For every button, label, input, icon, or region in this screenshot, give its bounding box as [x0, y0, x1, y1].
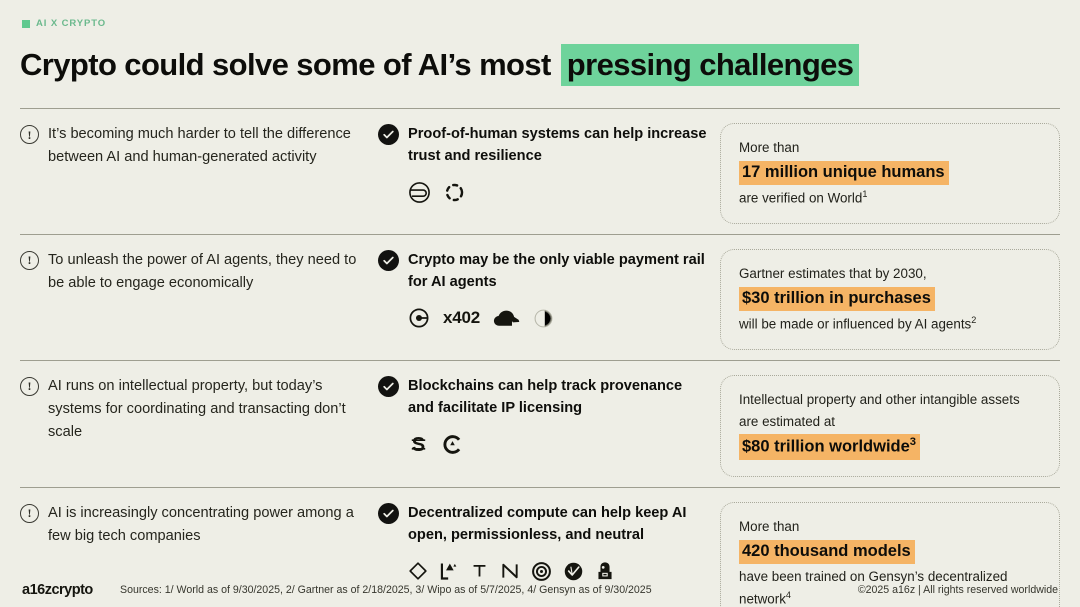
stat-highlight: 17 million unique humans — [739, 161, 949, 185]
eyebrow: AI X CRYPTO — [22, 18, 106, 29]
stat-card: Gartner estimates that by 2030, $30 tril… — [720, 249, 1060, 350]
stat-footnote: 3 — [910, 436, 916, 448]
footer: a16zcrypto Sources: 1/ World as of 9/30/… — [0, 573, 1080, 607]
stat-pre: More than — [739, 137, 1041, 159]
problem-cell: ! AI is increasingly concentrating power… — [20, 502, 378, 548]
stat-card: More than 17 million unique humans are v… — [720, 123, 1060, 224]
problem-text: It’s becoming much harder to tell the di… — [48, 123, 364, 169]
exclamation-circle-icon: ! — [20, 504, 39, 523]
solution-text: Decentralized compute can help keep AI o… — [408, 505, 686, 543]
content-rows: ! It’s becoming much harder to tell the … — [0, 108, 1080, 607]
striped-sphere-logo — [533, 308, 554, 329]
problem-cell: ! To unleash the power of AI agents, the… — [20, 249, 378, 295]
stat-cell: More than 17 million unique humans are v… — [720, 123, 1060, 224]
stat-highlight: $30 trillion in purchases — [739, 287, 935, 311]
title-plain: Crypto could solve some of AI’s most — [20, 47, 559, 82]
problem-cell: ! It’s becoming much harder to tell the … — [20, 123, 378, 169]
svg-text:S: S — [412, 434, 425, 456]
stat-post: will be made or influenced by AI agents2 — [739, 313, 1041, 335]
stat-cell: Gartner estimates that by 2030, $30 tril… — [720, 249, 1060, 350]
solution-cell: Decentralized compute can help keep AI o… — [378, 502, 720, 584]
stat-post-text: will be made or influenced by AI agents — [739, 316, 971, 331]
footer-sources: Sources: 1/ World as of 9/30/2025, 2/ Ga… — [120, 584, 652, 596]
stat-pre: Intellectual property and other intangib… — [739, 389, 1041, 432]
dashed-circle-logo — [444, 182, 465, 203]
logo-strip — [408, 179, 708, 205]
slide-root: AI X CRYPTO Crypto could solve some of A… — [0, 0, 1080, 607]
stat-highlight: $80 trillion worldwide3 — [739, 434, 920, 460]
table-row: ! It’s becoming much harder to tell the … — [20, 108, 1060, 234]
stat-pre: Gartner estimates that by 2030, — [739, 263, 1041, 285]
stat-highlight: 420 thousand models — [739, 540, 915, 564]
table-row: ! AI runs on intellectual property, but … — [20, 360, 1060, 487]
exclamation-circle-icon: ! — [20, 125, 39, 144]
cloudflare-cloud-logo — [493, 310, 520, 327]
check-circle-icon — [378, 124, 399, 145]
stat-pre: More than — [739, 516, 1041, 538]
eyebrow-label: AI X CRYPTO — [36, 18, 106, 29]
logo-strip: x402 — [408, 305, 708, 331]
green-square-icon — [22, 20, 30, 28]
logo-strip: S — [408, 431, 708, 457]
solution-cell: Proof-of-human systems can help increase… — [378, 123, 720, 205]
problem-text: AI runs on intellectual property, but to… — [48, 375, 364, 443]
problem-cell: ! AI runs on intellectual property, but … — [20, 375, 378, 443]
solution-cell: Blockchains can help track provenance an… — [378, 375, 720, 457]
footer-copyright: ©2025 a16z | All rights reserved worldwi… — [858, 584, 1058, 596]
stat-cell: Intellectual property and other intangib… — [720, 375, 1060, 477]
world-globe-logo — [408, 181, 431, 204]
camp-c-logo — [442, 434, 463, 455]
solution-cell: Crypto may be the only viable payment ra… — [378, 249, 720, 331]
stat-footnote: 1 — [862, 189, 867, 199]
check-circle-icon — [378, 503, 399, 524]
stat-card: Intellectual property and other intangib… — [720, 375, 1060, 477]
solution-text: Blockchains can help track provenance an… — [408, 378, 682, 416]
check-circle-icon — [378, 250, 399, 271]
stat-post: are verified on World1 — [739, 187, 1041, 209]
stat-footnote: 2 — [971, 315, 976, 325]
stat-highlight-text: $80 trillion worldwide — [742, 438, 910, 456]
exclamation-circle-icon: ! — [20, 251, 39, 270]
table-row: ! To unleash the power of AI agents, the… — [20, 234, 1060, 360]
stat-post-text: are verified on World — [739, 190, 862, 205]
a16zcrypto-logo: a16zcrypto — [22, 582, 93, 598]
solution-text: Proof-of-human systems can help increase… — [408, 126, 706, 164]
solution-text: Crypto may be the only viable payment ra… — [408, 252, 705, 290]
exclamation-circle-icon: ! — [20, 377, 39, 396]
check-circle-icon — [378, 376, 399, 397]
x402-wordmark: x402 — [443, 308, 480, 328]
story-s-logo: S — [408, 433, 429, 456]
title-highlight: pressing challenges — [561, 44, 860, 86]
page-title: Crypto could solve some of AI’s most pre… — [20, 46, 1060, 83]
circle-dot-logo — [408, 307, 430, 329]
problem-text: AI is increasingly concentrating power a… — [48, 502, 364, 548]
problem-text: To unleash the power of AI agents, they … — [48, 249, 364, 295]
